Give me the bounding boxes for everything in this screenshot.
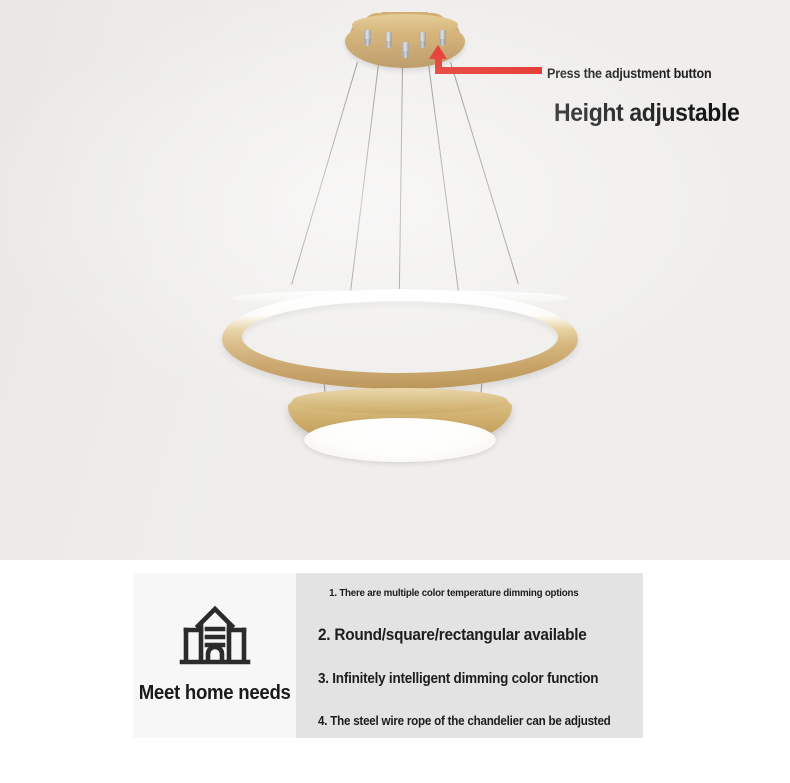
upper-gold-ring	[222, 289, 578, 389]
feature-right-panel: 1. There are multiple color temperature …	[296, 573, 643, 738]
disc-top-rim	[292, 388, 508, 414]
feature-left-label: Meet home needs	[139, 682, 291, 705]
cable-grip-3	[402, 42, 409, 57]
suspension-cable-4	[428, 64, 460, 294]
house-icon	[176, 600, 254, 670]
adjustment-button[interactable]	[439, 30, 446, 45]
feature-line-4: 4. The steel wire rope of the chandelier…	[318, 714, 611, 728]
lower-gold-disc	[288, 388, 512, 466]
headline-text: Height adjustable	[554, 99, 739, 128]
feature-line-1: 1. There are multiple color temperature …	[318, 587, 611, 599]
upper-ring-inner-cutout	[242, 301, 558, 373]
feature-line-3: 3. Infinitely intelligent dimming color …	[318, 671, 611, 687]
feature-left-panel: Meet home needs	[133, 573, 296, 738]
feature-panel: Meet home needs 1. There are multiple co…	[133, 573, 634, 738]
disc-light-diffuser	[304, 418, 496, 462]
upper-ring-highlight	[230, 290, 570, 306]
suspension-cable-2	[350, 64, 380, 294]
suspension-cable-5	[450, 62, 519, 284]
callout-arrow-head-icon	[429, 45, 447, 59]
callout-label: Press the adjustment button	[547, 66, 711, 81]
cable-grip-2	[385, 32, 392, 47]
cable-grip-4	[419, 32, 426, 47]
feature-line-2: 2. Round/square/rectangular available	[318, 626, 611, 645]
product-feature-image: Press the adjustment button Height adjus…	[0, 0, 790, 783]
callout-arrow-shaft	[445, 67, 542, 74]
ceiling-canopy	[340, 12, 470, 74]
cable-grip-1	[364, 30, 371, 45]
product-photo: Press the adjustment button Height adjus…	[0, 0, 790, 560]
suspension-cable-1	[291, 62, 358, 285]
